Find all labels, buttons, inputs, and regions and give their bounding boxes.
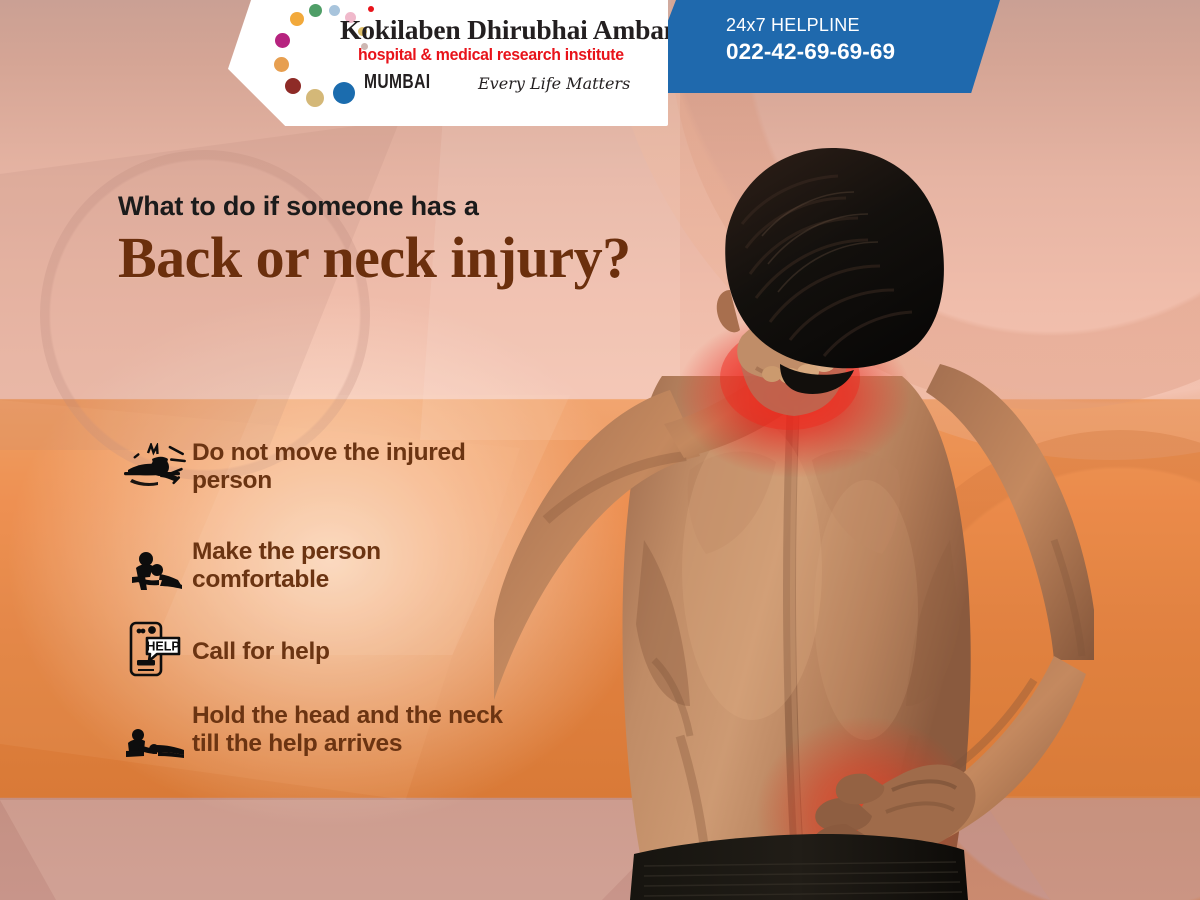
injured-person-impact-icon: [118, 437, 192, 491]
poster-root: What to do if someone has a Back or neck…: [0, 0, 1200, 900]
list-item: HELP Call for help: [118, 618, 518, 700]
headline-main: Back or neck injury?: [118, 228, 631, 289]
list-item-label: Hold the head and the neck till the help…: [192, 700, 518, 758]
list-item-label: Call for help: [192, 618, 330, 666]
brand-name: Kokilaben Dhirubhai Ambani: [340, 14, 686, 46]
list-item: Hold the head and the neck till the help…: [118, 700, 518, 810]
hold-head-neck-icon: [118, 700, 192, 762]
helpline-label: 24x7 HELPLINE: [726, 14, 1000, 37]
phone-help-label: HELP: [146, 640, 179, 654]
headline-block: What to do if someone has a Back or neck…: [118, 192, 631, 289]
headline-kicker: What to do if someone has a: [118, 192, 631, 222]
helpline-banner[interactable]: 24x7 HELPLINE 022-42-69-69-69: [640, 0, 1000, 93]
helper-kneeling-icon: [118, 536, 192, 592]
tips-list: Do not move the injured person: [118, 437, 518, 810]
brand-subtitle: hospital & medical research institute: [358, 46, 624, 65]
list-item-label: Do not move the injured person: [192, 437, 518, 495]
helpline-number[interactable]: 022-42-69-69-69: [726, 37, 1000, 66]
header: 24x7 HELPLINE 022-42-69-69-69 Kokilaben …: [0, 0, 1200, 140]
logo-panel[interactable]: Kokilaben Dhirubhai Ambani hospital & me…: [228, 0, 668, 126]
list-item-label: Make the person comfortable: [192, 536, 518, 594]
phone-help-icon: HELP: [118, 618, 192, 678]
list-item: Make the person comfortable: [118, 536, 518, 618]
brand-city: MUMBAI: [364, 71, 430, 94]
list-item: Do not move the injured person: [118, 437, 518, 536]
brand-tagline: Every Life Matters: [478, 74, 630, 93]
